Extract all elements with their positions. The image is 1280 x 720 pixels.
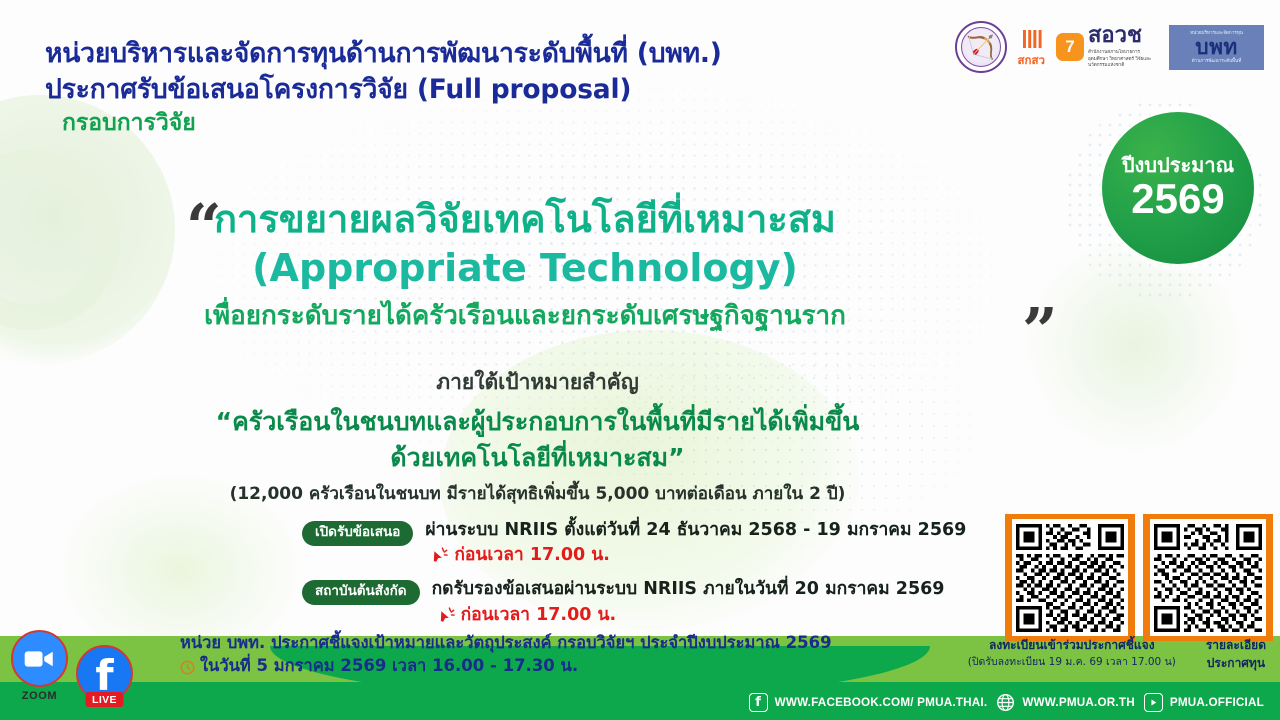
- quote-close-icon: ”: [1022, 300, 1058, 362]
- footer-line-2: ในวันที่ 5 มกราคม 2569 เวลา 16.00 - 17.3…: [200, 655, 578, 678]
- logo-strip: 🏹 ‖‖ สกสว 7 สอวช สำนักงานสภานโยบายการอุด…: [955, 18, 1264, 76]
- main-title-line-2: (Appropriate Technology): [0, 244, 1050, 293]
- fiscal-year-label: ปีงบประมาณ: [1122, 154, 1234, 176]
- youtube-channel-label: PMUA.OFFICIAL: [1170, 696, 1264, 709]
- globe-icon: [996, 693, 1015, 712]
- bpt-logo: หน่วยบริหารและจัดการทุน บพท ด้านการพัฒนา…: [1169, 25, 1264, 70]
- facebook-icon: f: [749, 693, 768, 712]
- main-title-block: การขยายผลวิจัยเทคโนโลยีที่เหมาะสม (Appro…: [0, 196, 1050, 335]
- main-title-line-1: การขยายผลวิจัยเทคโนโลยีที่เหมาะสม: [0, 196, 1050, 244]
- qr-register-image[interactable]: [1016, 524, 1124, 632]
- royal-seal-emblem: 🏹: [961, 27, 1001, 67]
- goal-note: (12,000 ครัวเรือนในชนบท มีรายได้สุทธิเพิ…: [0, 483, 1075, 507]
- qr-details-image[interactable]: [1154, 524, 1262, 632]
- zoom-icon[interactable]: [11, 630, 68, 687]
- goal-lead-text: ภายใต้เป้าหมายสำคัญ: [0, 368, 1075, 397]
- social-link-website[interactable]: WWW.PMUA.OR.TH: [996, 693, 1135, 712]
- zoom-label: ZOOM: [22, 690, 57, 702]
- zoom-channel[interactable]: ZOOM: [11, 630, 68, 702]
- qr-register-caption-line-2: (ปิดรับลงทะเบียน 19 ม.ค. 69 เวลา 17.00 น…: [968, 655, 1176, 670]
- bpt-logo-bottomtext: ด้านการพัฒนาระดับพื้นที่: [1192, 59, 1241, 64]
- qr-details-caption-line-2: ประกาศทุน: [1206, 655, 1266, 672]
- click-cursor-icon: [438, 606, 457, 625]
- deadline-list: เปิดรับข้อเสนอ ผ่านระบบ NRIIS ตั้งแต่วัน…: [302, 519, 1002, 626]
- facebook-url-label: WWW.FACEBOOK.COM/ PMUA.THAI.: [775, 696, 988, 709]
- deadline-row: เปิดรับข้อเสนอ ผ่านระบบ NRIIS ตั้งแต่วัน…: [302, 519, 1002, 566]
- deadline-pill-badge: เปิดรับข้อเสนอ: [302, 521, 413, 546]
- header-block: หน่วยบริหารและจัดการทุนด้านการพัฒนาระดับ…: [45, 36, 722, 139]
- header-line-3: กรอบการวิจัย: [62, 108, 722, 139]
- goal-quote-line-2: ด้วยเทคโนโลยีที่เหมาะสม”: [0, 440, 1075, 476]
- qr-register-caption-line-1: ลงทะเบียนเข้าร่วมประกาศชี้แจง: [968, 637, 1176, 654]
- fiscal-year-value: 2569: [1131, 177, 1224, 221]
- header-line-1: หน่วยบริหารและจัดการทุนด้านการพัฒนาระดับ…: [45, 36, 722, 72]
- qr-code-details[interactable]: [1143, 514, 1273, 641]
- qr-details-caption-line-1: รายละเอียด: [1206, 637, 1266, 654]
- deadline-text: ผ่านระบบ NRIIS ตั้งแต่วันที่ 24 ธันวาคม …: [425, 519, 966, 542]
- goal-quote-line-1: “ครัวเรือนในชนบทและผู้ประกอบการในพื้นที่…: [0, 404, 1075, 440]
- facebook-f-glyph: f: [95, 657, 113, 695]
- qr-register-caption: ลงทะเบียนเข้าร่วมประกาศชี้แจง (ปิดรับลงท…: [968, 637, 1176, 670]
- social-link-facebook[interactable]: f WWW.FACEBOOK.COM/ PMUA.THAI.: [749, 693, 988, 712]
- facebook-live-channel[interactable]: f LIVE: [76, 645, 133, 702]
- sksw-mark-icon: ‖‖: [1021, 28, 1042, 53]
- deadline-row: สถาบันต้นสังกัด กดรับรองข้อเสนอผ่านระบบ …: [302, 578, 1002, 625]
- deadline-highlight: ก่อนเวลา 17.00 น.: [454, 545, 610, 566]
- header-line-2: ประกาศรับข้อเสนอโครงการวิจัย (Full propo…: [45, 72, 722, 108]
- royal-seal-logo: 🏹: [955, 21, 1007, 73]
- deadline-highlight: ก่อนเวลา 17.00 น.: [461, 605, 617, 626]
- qr-code-group: [1005, 514, 1273, 641]
- youtube-icon: [1144, 693, 1163, 712]
- footer-social-links: f WWW.FACEBOOK.COM/ PMUA.THAI. WWW.PMUA.…: [749, 693, 1264, 712]
- social-link-youtube[interactable]: PMUA.OFFICIAL: [1144, 693, 1264, 712]
- fiscal-year-badge: ปีงบประมาณ 2569: [1102, 112, 1254, 264]
- goal-block: ภายใต้เป้าหมายสำคัญ “ครัวเรือนในชนบทและผ…: [0, 368, 1075, 507]
- broadcast-channel-icons: ZOOM f LIVE: [11, 630, 133, 702]
- sksw-logo-label: สกสว: [1018, 55, 1045, 67]
- poster-canvas: หน่วยบริหารและจัดการทุนด้านการพัฒนาระดับ…: [0, 0, 1280, 720]
- facebook-live-icon[interactable]: f LIVE: [76, 645, 133, 702]
- main-title-line-3: เพื่อยกระดับรายได้ครัวเรือนและยกระดับเศร…: [0, 298, 1050, 334]
- qr-code-register[interactable]: [1005, 514, 1135, 641]
- footer-line-1: หน่วย บพท. ประกาศชี้แจงเป้าหมายและวัตถุป…: [180, 632, 832, 655]
- live-badge: LIVE: [85, 692, 124, 707]
- sow-badge-icon: 7: [1056, 33, 1084, 61]
- deadline-text: กดรับรองข้อเสนอผ่านระบบ NRIIS ภายในวันที…: [432, 578, 945, 601]
- footer-announcement-block: หน่วย บพท. ประกาศชี้แจงเป้าหมายและวัตถุป…: [180, 632, 832, 678]
- website-url-label: WWW.PMUA.OR.TH: [1022, 696, 1135, 709]
- deadline-pill-badge: สถาบันต้นสังกัด: [302, 580, 420, 605]
- sow-logo-sublabel: สำนักงานสภานโยบายการอุดมศึกษา วิทยาศาสตร…: [1088, 49, 1158, 70]
- clock-icon: [180, 659, 195, 674]
- sow-logo-label: สอวช: [1088, 25, 1158, 47]
- sksw-logo: ‖‖ สกสว: [1018, 28, 1045, 67]
- qr-details-caption: รายละเอียด ประกาศทุน: [1206, 637, 1266, 672]
- bpt-logo-mark: บพท: [1195, 37, 1238, 58]
- footer-qr-captions: ลงทะเบียนเข้าร่วมประกาศชี้แจง (ปิดรับลงท…: [968, 637, 1266, 672]
- quote-open-icon: “: [186, 196, 222, 258]
- click-cursor-icon: [431, 546, 450, 565]
- sow-logo: 7 สอวช สำนักงานสภานโยบายการอุดมศึกษา วิท…: [1056, 25, 1158, 70]
